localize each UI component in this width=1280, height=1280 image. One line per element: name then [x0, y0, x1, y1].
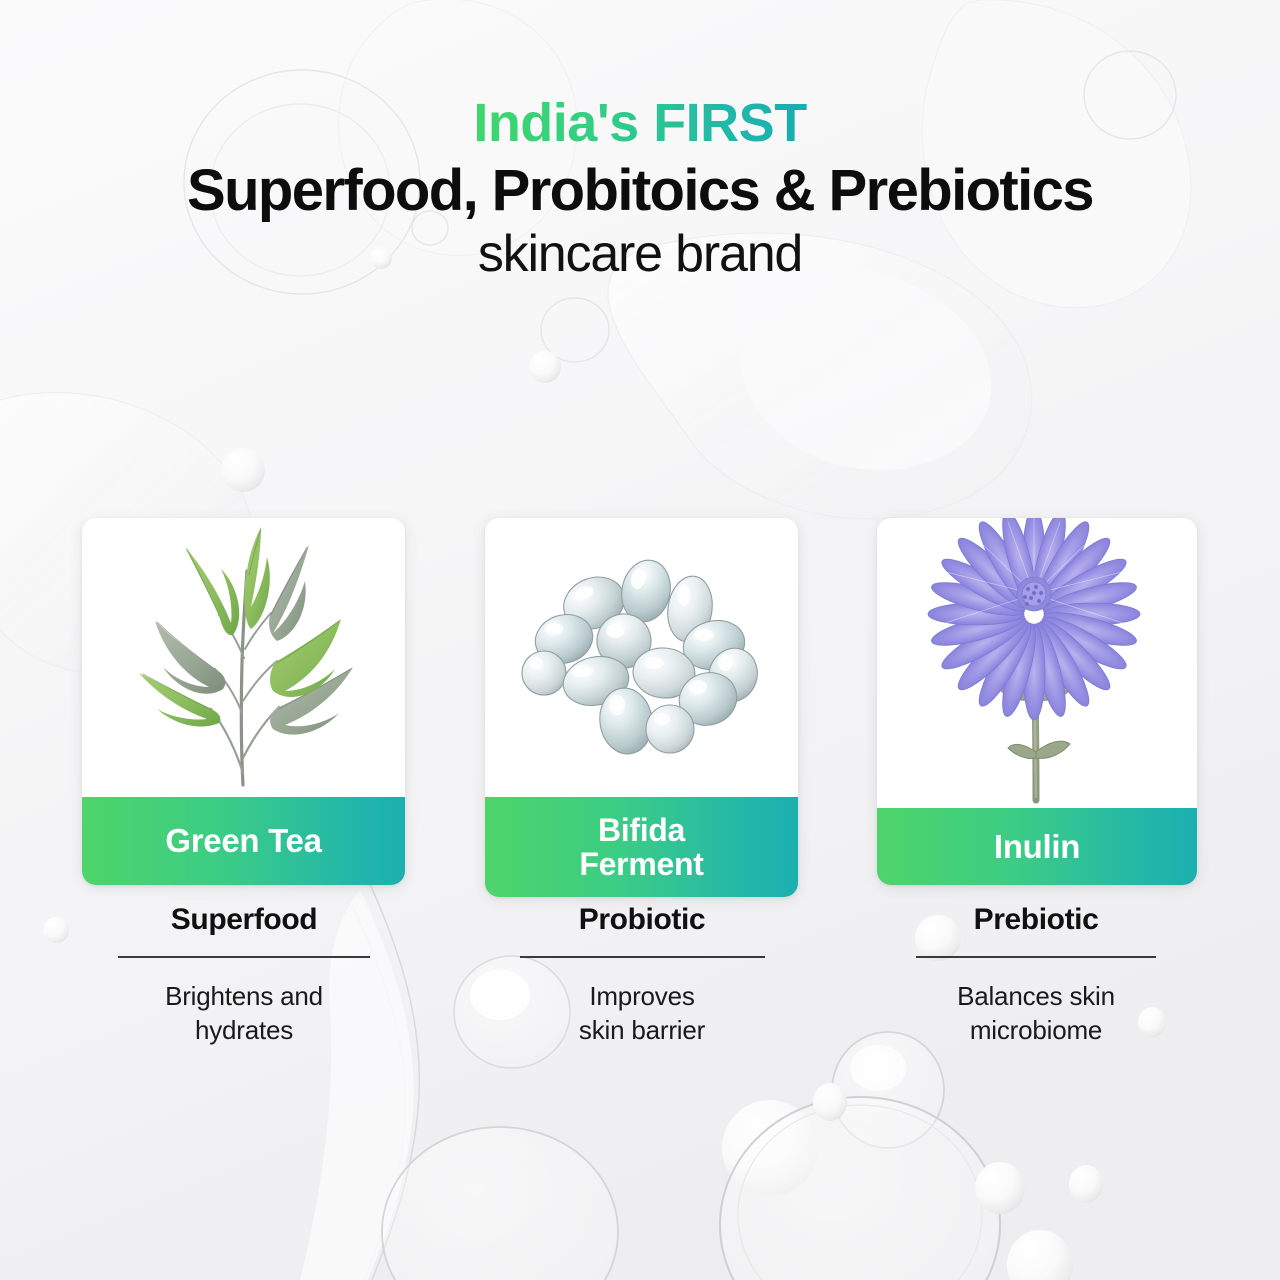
card-label-inulin: Inulin: [877, 808, 1197, 885]
caption-superfood: Superfood Brightens and hydrates: [115, 903, 373, 1048]
ingredient-card-bifida-ferment[interactable]: Bifida Ferment: [485, 518, 798, 897]
headline-line-3: skincare brand: [0, 225, 1280, 283]
card-label-bifida-ferment: Bifida Ferment: [485, 797, 798, 897]
caption-divider-prebiotic: [916, 956, 1156, 958]
headline-block: India's FIRST Superfood, Probitoics & Pr…: [0, 96, 1280, 283]
bifida-ferment-pearls-icon: [485, 518, 798, 797]
caption-desc-superfood-line1: Brightens and: [165, 981, 323, 1011]
caption-prebiotic: Prebiotic Balances skin microbiome: [907, 903, 1165, 1048]
caption-desc-prebiotic-line2: microbiome: [970, 1015, 1102, 1045]
caption-desc-probiotic-line1: Improves: [589, 981, 694, 1011]
caption-probiotic: Probiotic Improves skin barrier: [513, 903, 771, 1048]
ingredient-card-row: Green Tea: [0, 518, 1280, 888]
caption-title-superfood: Superfood: [115, 903, 373, 936]
card-label-green-tea: Green Tea: [82, 797, 405, 885]
headline-line-2: Superfood, Probitoics & Prebiotics: [0, 160, 1280, 223]
ingredient-card-green-tea[interactable]: Green Tea: [82, 518, 405, 885]
chicory-flower-icon: [877, 518, 1197, 808]
card-label-bifida-line1: Bifida: [598, 812, 685, 848]
caption-divider-probiotic: [520, 956, 765, 958]
caption-desc-prebiotic: Balances skin microbiome: [907, 980, 1165, 1048]
caption-divider-superfood: [118, 956, 370, 958]
card-label-bifida-line2: Ferment: [579, 846, 703, 882]
green-tea-leaves-icon: [82, 518, 405, 797]
headline-line-1: India's FIRST: [473, 96, 806, 150]
caption-desc-prebiotic-line1: Balances skin: [957, 981, 1115, 1011]
ingredient-card-inulin[interactable]: Inulin: [877, 518, 1197, 885]
caption-desc-superfood: Brightens and hydrates: [115, 980, 373, 1048]
caption-desc-superfood-line2: hydrates: [195, 1015, 293, 1045]
caption-title-prebiotic: Prebiotic: [907, 903, 1165, 936]
caption-title-probiotic: Probiotic: [513, 903, 771, 936]
caption-desc-probiotic-line2: skin barrier: [579, 1015, 705, 1045]
caption-desc-probiotic: Improves skin barrier: [513, 980, 771, 1048]
